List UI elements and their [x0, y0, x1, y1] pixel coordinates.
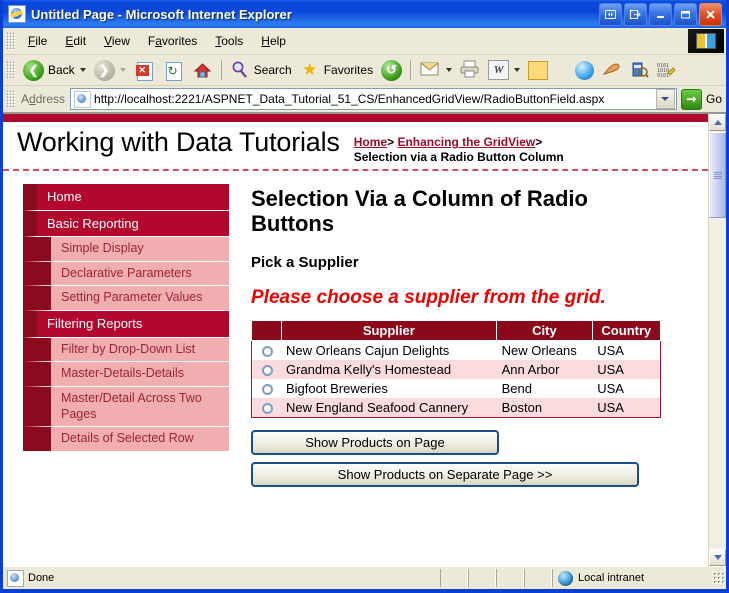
page-top-band [3, 114, 708, 122]
status-cell-2 [468, 569, 496, 587]
search-label: Search [254, 63, 292, 77]
status-bar: Done Local intranet [3, 566, 726, 589]
sidebar-item-master-detail-across-two-pages[interactable]: Master/Detail Across Two Pages [23, 387, 229, 427]
window-bottom-edge [3, 589, 726, 593]
cell-city: New Orleans [497, 340, 593, 360]
print-button[interactable] [456, 58, 484, 82]
cell-supplier: Bigfoot Breweries [281, 379, 497, 398]
maximize-button[interactable] [674, 3, 697, 26]
close-icon [700, 4, 721, 25]
forward-dropdown-icon [120, 68, 126, 72]
menu-bar: File Edit View Favorites Tools Help [3, 28, 726, 55]
discuss-button[interactable] [598, 58, 626, 82]
research-button[interactable] [626, 58, 653, 82]
search-icon [230, 60, 250, 80]
page-favicon-icon [74, 91, 91, 108]
ie-brand-logo [688, 29, 724, 53]
ie-document-icon [8, 5, 26, 23]
back-button[interactable]: ❮ Back [19, 58, 90, 82]
favorites-button[interactable]: ★ Favorites [296, 58, 377, 82]
cell-city: Bend [497, 379, 593, 398]
cell-country: USA [592, 379, 660, 398]
web-page: Working with Data Tutorials Home> Enhanc… [3, 114, 708, 566]
radio-button-icon[interactable] [262, 403, 273, 414]
row-radio-cell[interactable] [252, 340, 282, 360]
toolbar-grip-handle[interactable] [6, 61, 15, 79]
restore-group-button[interactable] [599, 3, 622, 26]
menu-edit[interactable]: Edit [56, 31, 95, 51]
edit-word-icon: W [488, 60, 509, 80]
back-arrow-icon: ❮ [23, 60, 44, 81]
close-button[interactable] [699, 3, 722, 26]
sidebar-item-master-details-details[interactable]: Master-Details-Details [23, 362, 229, 387]
address-url-text: http://localhost:2221/ASPNET_Data_Tutori… [94, 92, 656, 106]
favorites-label: Favorites [324, 63, 373, 77]
back-label: Back [48, 63, 75, 77]
cell-supplier: New Orleans Cajun Delights [281, 340, 497, 360]
notes-button[interactable] [524, 58, 552, 82]
back-dropdown-icon[interactable] [80, 68, 86, 72]
row-radio-cell[interactable] [252, 398, 282, 418]
table-row: New England Seafood Cannery Boston USA [252, 398, 661, 418]
sidebar-item-setting-parameter-values[interactable]: Setting Parameter Values [23, 286, 229, 311]
home-button[interactable] [188, 58, 217, 82]
tab-restore-button[interactable] [624, 3, 647, 26]
cell-supplier: Grandma Kelly's Homestead [281, 360, 497, 379]
radio-button-icon[interactable] [262, 365, 273, 376]
validation-message: Please choose a supplier from the grid. [251, 287, 661, 309]
cell-city: Boston [497, 398, 593, 418]
grid-header-row: Supplier City Country [252, 320, 661, 340]
menu-view[interactable]: View [95, 31, 139, 51]
window-restore-icon [625, 4, 646, 25]
home-icon [192, 60, 213, 81]
cell-country: USA [592, 398, 660, 418]
sidebar-item-filtering-reports[interactable]: Filtering Reports [23, 311, 229, 338]
main-content: Selection Via a Column of Radio Buttons … [229, 171, 708, 494]
cell-country: USA [592, 340, 660, 360]
resize-grip-icon[interactable] [712, 571, 726, 585]
restore-group-icon [600, 4, 621, 25]
stop-icon: ✕ [134, 60, 155, 81]
mail-dropdown-icon[interactable] [446, 68, 452, 72]
edit-word-button[interactable]: W [484, 58, 524, 82]
address-input[interactable]: http://localhost:2221/ASPNET_Data_Tutori… [70, 88, 677, 110]
breadcrumb-item-current: Selection via a Radio Button Column [354, 150, 564, 164]
radio-button-icon[interactable] [262, 384, 273, 395]
scrollbar-thumb[interactable] [709, 132, 726, 218]
column-header-select [252, 320, 282, 340]
go-label: Go [706, 92, 722, 106]
address-grip-handle[interactable] [6, 90, 15, 108]
address-dropdown-button[interactable] [656, 89, 675, 109]
discuss-icon [602, 61, 622, 79]
breadcrumb-item-enhancing-the-gridview[interactable]: Enhancing the GridView [397, 135, 535, 149]
go-arrow-icon: ➞ [681, 89, 702, 110]
show-products-on-page-button[interactable]: Show Products on Page [251, 430, 499, 455]
go-button[interactable]: ➞ Go [677, 89, 726, 110]
globe-icon [558, 571, 573, 586]
status-text: Done [28, 572, 440, 584]
edit-dropdown-icon[interactable] [514, 68, 520, 72]
messenger-button[interactable] [571, 58, 598, 82]
status-cell-1 [440, 569, 468, 587]
sidebar: Home Basic Reporting Simple Display Decl… [23, 184, 229, 451]
status-cell-3 [496, 569, 524, 587]
radio-button-icon[interactable] [262, 346, 273, 357]
notes-icon [528, 61, 548, 80]
address-bar: Address http://localhost:2221/ASPNET_Dat… [3, 86, 726, 113]
menu-favorites[interactable]: Favorites [139, 31, 206, 51]
mail-icon [419, 60, 441, 80]
cell-city: Ann Arbor [497, 360, 593, 379]
cell-supplier: New England Seafood Cannery [281, 398, 497, 418]
page-title: Working with Data Tutorials [17, 128, 340, 156]
browser-window: Untitled Page - Microsoft Internet Explo… [0, 0, 729, 593]
tool-bar: ❮ Back ❯ ✕ ↻ Search ★ Favorites [3, 55, 726, 86]
encoding-button[interactable]: 010110100101 [653, 58, 681, 82]
sidebar-item-basic-reporting[interactable]: Basic Reporting [23, 211, 229, 238]
breadcrumb-separator-1: > [387, 135, 394, 149]
stop-button[interactable]: ✕ [130, 58, 159, 82]
minimize-icon [650, 4, 671, 25]
supplier-grid: Supplier City Country New Orleans Cajun … [251, 320, 661, 418]
maximize-icon [675, 4, 696, 25]
column-header-city: City [497, 320, 593, 340]
forward-arrow-icon: ❯ [94, 60, 115, 81]
scrollbar-grip-icon [714, 172, 722, 179]
row-radio-cell[interactable] [252, 360, 282, 379]
status-cell-4 [524, 569, 552, 587]
scroll-down-button[interactable] [709, 549, 726, 566]
sidebar-item-filter-by-drop-down-list[interactable]: Filter by Drop-Down List [23, 338, 229, 363]
menu-tools[interactable]: Tools [206, 31, 252, 51]
refresh-icon: ↻ [163, 60, 184, 81]
toolbar-separator [221, 60, 222, 80]
menu-grip-handle[interactable] [6, 32, 15, 50]
security-zone[interactable]: Local intranet [552, 569, 708, 587]
content-heading: Selection Via a Column of Radio Buttons [251, 187, 611, 236]
security-zone-label: Local intranet [578, 572, 644, 584]
page-viewport: Working with Data Tutorials Home> Enhanc… [3, 113, 726, 566]
toolbar-separator-2 [410, 60, 411, 80]
print-icon [460, 60, 480, 80]
table-row: Grandma Kelly's Homestead Ann Arbor USA [252, 360, 661, 379]
search-button[interactable]: Search [226, 58, 296, 82]
sidebar-item-declarative-parameters[interactable]: Declarative Parameters [23, 262, 229, 287]
address-label: Address [21, 92, 65, 106]
research-icon [630, 61, 649, 80]
vertical-scrollbar[interactable] [708, 114, 726, 566]
action-buttons: Show Products on Page Show Products on S… [251, 430, 696, 487]
mail-button[interactable] [415, 58, 456, 82]
breadcrumb-separator-2: > [535, 135, 542, 149]
menu-help[interactable]: Help [252, 31, 295, 51]
table-row: New Orleans Cajun Delights New Orleans U… [252, 340, 661, 360]
content-subheading: Pick a Supplier [251, 254, 696, 271]
sidebar-item-details-of-selected-row[interactable]: Details of Selected Row [23, 427, 229, 451]
sidebar-item-home[interactable]: Home [23, 184, 229, 211]
show-products-separate-page-button[interactable]: Show Products on Separate Page >> [251, 462, 639, 487]
title-bar: Untitled Page - Microsoft Internet Explo… [3, 0, 726, 28]
menu-file[interactable]: File [19, 31, 56, 51]
column-header-supplier: Supplier [281, 320, 497, 340]
history-icon: ↺ [381, 60, 402, 81]
favorites-star-icon: ★ [300, 60, 320, 80]
minimize-button[interactable] [649, 3, 672, 26]
sidebar-item-simple-display[interactable]: Simple Display [23, 237, 229, 262]
column-header-country: Country [592, 320, 660, 340]
window-title: Untitled Page - Microsoft Internet Explo… [31, 7, 292, 22]
page-body: Home Basic Reporting Simple Display Decl… [3, 171, 708, 494]
page-icon [7, 570, 24, 587]
page-header: Working with Data Tutorials Home> Enhanc… [3, 122, 708, 171]
forward-button[interactable]: ❯ [90, 58, 130, 82]
history-button[interactable]: ↺ [377, 58, 406, 82]
table-row: Bigfoot Breweries Bend USA [252, 379, 661, 398]
breadcrumb-item-home[interactable]: Home [354, 135, 387, 149]
row-radio-cell[interactable] [252, 379, 282, 398]
scroll-up-button[interactable] [709, 114, 726, 131]
messenger-icon [575, 61, 594, 80]
breadcrumb: Home> Enhancing the GridView> Selection … [354, 135, 564, 165]
refresh-button[interactable]: ↻ [159, 58, 188, 82]
window-controls [599, 3, 722, 26]
svg-text:0101: 0101 [657, 73, 669, 79]
encoding-icon: 010110100101 [657, 61, 677, 80]
cell-country: USA [592, 360, 660, 379]
